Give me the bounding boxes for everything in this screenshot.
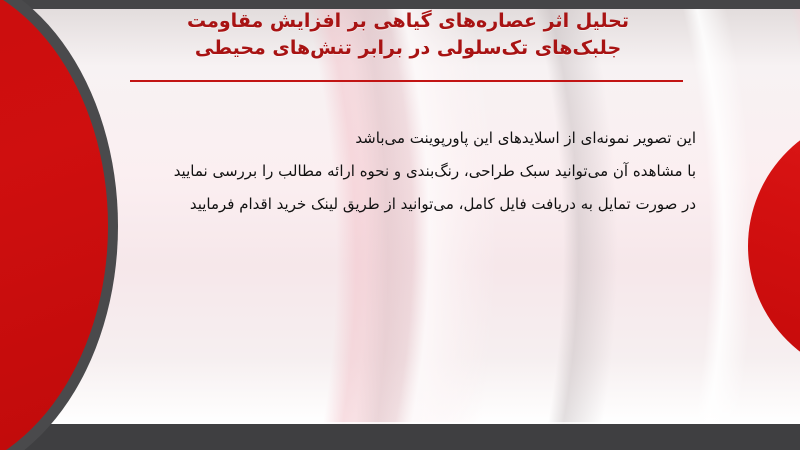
right-red-circle-decoration: [748, 112, 800, 380]
slide-title: تحلیل اثر عصاره‌های گیاهی بر افزایش مقاو…: [120, 8, 696, 62]
slide-body-text: این تصویر نمونه‌ای از اسلایدهای این پاور…: [96, 122, 696, 221]
body-line-3: در صورت تمایل به دریافت فایل کامل، می‌تو…: [96, 188, 696, 221]
body-line-1: این تصویر نمونه‌ای از اسلایدهای این پاور…: [96, 122, 696, 155]
title-line-1: تحلیل اثر عصاره‌های گیاهی بر افزایش مقاو…: [120, 8, 696, 35]
title-line-2: جلبک‌های تک‌سلولی در برابر تنش‌های محیطی: [120, 35, 696, 62]
presentation-slide: تحلیل اثر عصاره‌های گیاهی بر افزایش مقاو…: [0, 0, 800, 450]
bottom-frame-band: [0, 424, 800, 450]
body-line-2: با مشاهده آن می‌توانید سبک طراحی، رنگ‌بن…: [96, 155, 696, 188]
title-divider-rule: [130, 80, 683, 82]
